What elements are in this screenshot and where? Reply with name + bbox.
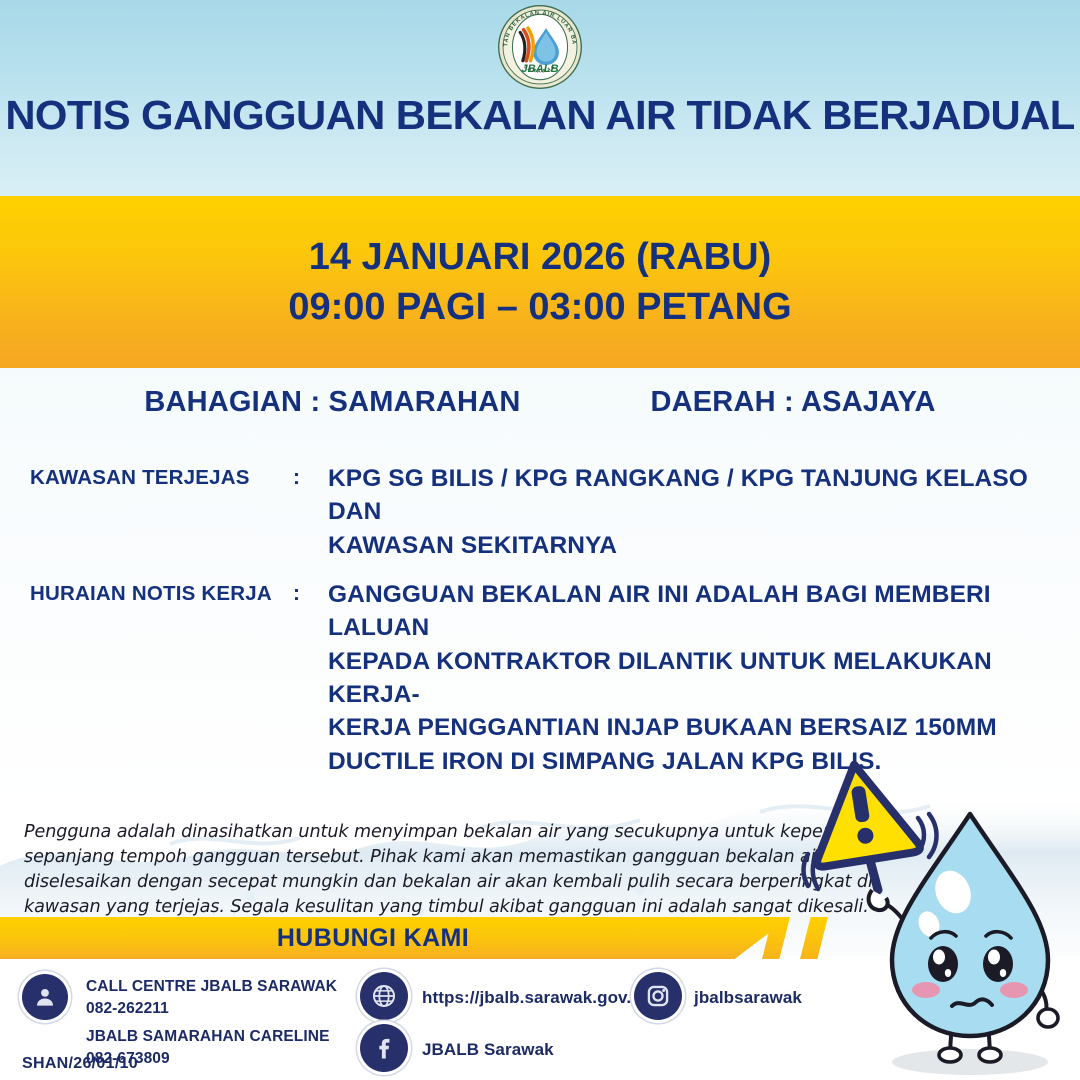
field-affected-areas: KAWASAN TERJEJAS : KPG SG BILIS / KPG RA…: [30, 462, 1060, 562]
value-line: KEPADA KONTRAKTOR DILANTIK UNTUK MELAKUK…: [328, 645, 1060, 712]
district-label: DAERAH : ASAJAYA: [650, 386, 935, 419]
field-value: KPG SG BILIS / KPG RANGKANG / KPG TANJUN…: [328, 462, 1060, 562]
advisory-paragraph: Pengguna adalah dinasihatkan untuk menyi…: [24, 820, 764, 920]
instagram-icon[interactable]: [634, 972, 682, 1020]
date-time-band: 14 JANUARI 2026 (RABU) 09:00 PAGI – 03:0…: [0, 196, 1080, 368]
field-colon: :: [293, 578, 328, 606]
contact-banner-title: HUBUNGI KAMI: [277, 924, 469, 953]
page-title: NOTIS GANGGUAN BEKALAN AIR TIDAK BERJADU…: [0, 92, 1080, 139]
advisory-line: sepanjang tempoh gangguan tersebut. Piha…: [24, 845, 764, 870]
globe-icon[interactable]: [360, 972, 408, 1020]
jbalb-logo: JABATAN BEKALAN AIR LUAR BANDAR JBALB SA…: [497, 4, 583, 90]
notice-time: 09:00 PAGI – 03:00 PETANG: [288, 282, 791, 332]
call-centre-name: CALL CENTRE JBALB SARAWAK: [86, 976, 337, 998]
advisory-line: kawasan yang terjejas. Segala kesulitan …: [24, 895, 764, 920]
decorative-stripe: [800, 917, 828, 959]
website-url[interactable]: https://jbalb.sarawak.gov.my/: [422, 986, 661, 1010]
reference-code: SHAN/26/01/10: [22, 1055, 138, 1073]
value-line: KERJA PENGGANTIAN INJAP BUKAAN BERSAIZ 1…: [328, 711, 1060, 744]
field-work-description: HURAIAN NOTIS KERJA : GANGGUAN BEKALAN A…: [30, 578, 1060, 778]
facebook-handle[interactable]: JBALB Sarawak: [422, 1038, 554, 1062]
advisory-line: diselesaikan dengan secepat mungkin dan …: [24, 870, 764, 895]
division-label: BAHAGIAN : SAMARAHAN: [144, 386, 520, 419]
contact-banner: HUBUNGI KAMI: [0, 917, 790, 959]
instagram-handle[interactable]: jbalbsarawak: [694, 986, 802, 1010]
call-centre-phone[interactable]: 082-262211: [86, 998, 337, 1020]
person-icon[interactable]: [22, 974, 68, 1020]
notice-date: 14 JANUARI 2026 (RABU): [309, 232, 771, 282]
region-row: BAHAGIAN : SAMARAHAN DAERAH : ASAJAYA: [0, 386, 1080, 419]
value-line: KAWASAN SEKITARNYA: [328, 529, 1060, 562]
advisory-line: Pengguna adalah dinasihatkan untuk menyi…: [24, 820, 764, 845]
facebook-icon[interactable]: [360, 1024, 408, 1072]
value-line: DUCTILE IRON DI SIMPANG JALAN KPG BILIS.: [328, 745, 1060, 778]
notice-poster: JABATAN BEKALAN AIR LUAR BANDAR JBALB SA…: [0, 0, 1080, 1080]
careline-name: JBALB SAMARAHAN CARELINE: [86, 1026, 330, 1048]
call-centre-info: CALL CENTRE JBALB SARAWAK 082-262211: [86, 976, 337, 1020]
poster-header: JABATAN BEKALAN AIR LUAR BANDAR JBALB SA…: [0, 0, 1080, 196]
value-line: GANGGUAN BEKALAN AIR INI ADALAH BAGI MEM…: [328, 578, 1060, 645]
field-label: KAWASAN TERJEJAS: [30, 462, 293, 490]
value-line: KPG SG BILIS / KPG RANGKANG / KPG TANJUN…: [328, 462, 1060, 529]
field-colon: :: [293, 462, 328, 490]
field-value: GANGGUAN BEKALAN AIR INI ADALAH BAGI MEM…: [328, 578, 1060, 778]
field-label: HURAIAN NOTIS KERJA: [30, 578, 293, 606]
